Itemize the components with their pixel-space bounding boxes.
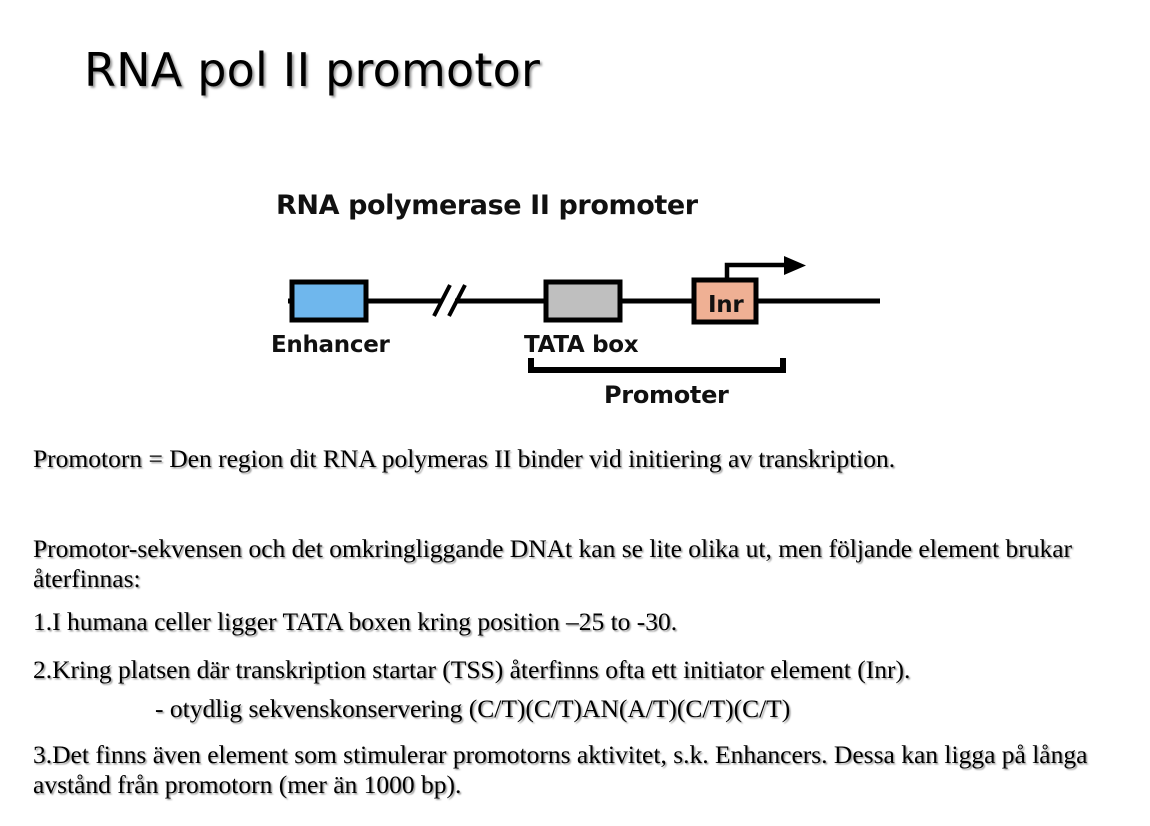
inr-label: Inr — [708, 292, 744, 318]
enhancer-label: Enhancer — [271, 332, 390, 358]
tss-arrowhead-icon — [784, 256, 806, 275]
promoter-label: Promoter — [604, 381, 729, 409]
promoter-diagram-svg: Enhancer TATA box Inr Promoter — [0, 190, 1150, 420]
promoter-bracket — [531, 358, 783, 370]
list-item-2: 2.Kring platsen där transkription starta… — [33, 655, 1123, 685]
definition-paragraph: Promotorn = Den region dit RNA polymeras… — [33, 444, 1123, 474]
list-item-3: 3.Det finns även element som stimulerar … — [33, 740, 1123, 800]
list-item-2-sub: - otydlig sekvenskonservering (C/T)(C/T)… — [155, 694, 1115, 724]
enhancer-box — [292, 282, 366, 320]
tata-box — [546, 282, 620, 320]
intro-paragraph: Promotor-sekvensen och det omkringliggan… — [33, 534, 1123, 594]
tata-box-label: TATA box — [524, 332, 639, 358]
promoter-diagram: RNA polymerase II promoter Enhancer TATA… — [0, 190, 1150, 420]
list-item-1: 1.I humana celler ligger TATA boxen krin… — [33, 607, 1123, 637]
page-title: RNA pol II promotor — [84, 43, 540, 97]
